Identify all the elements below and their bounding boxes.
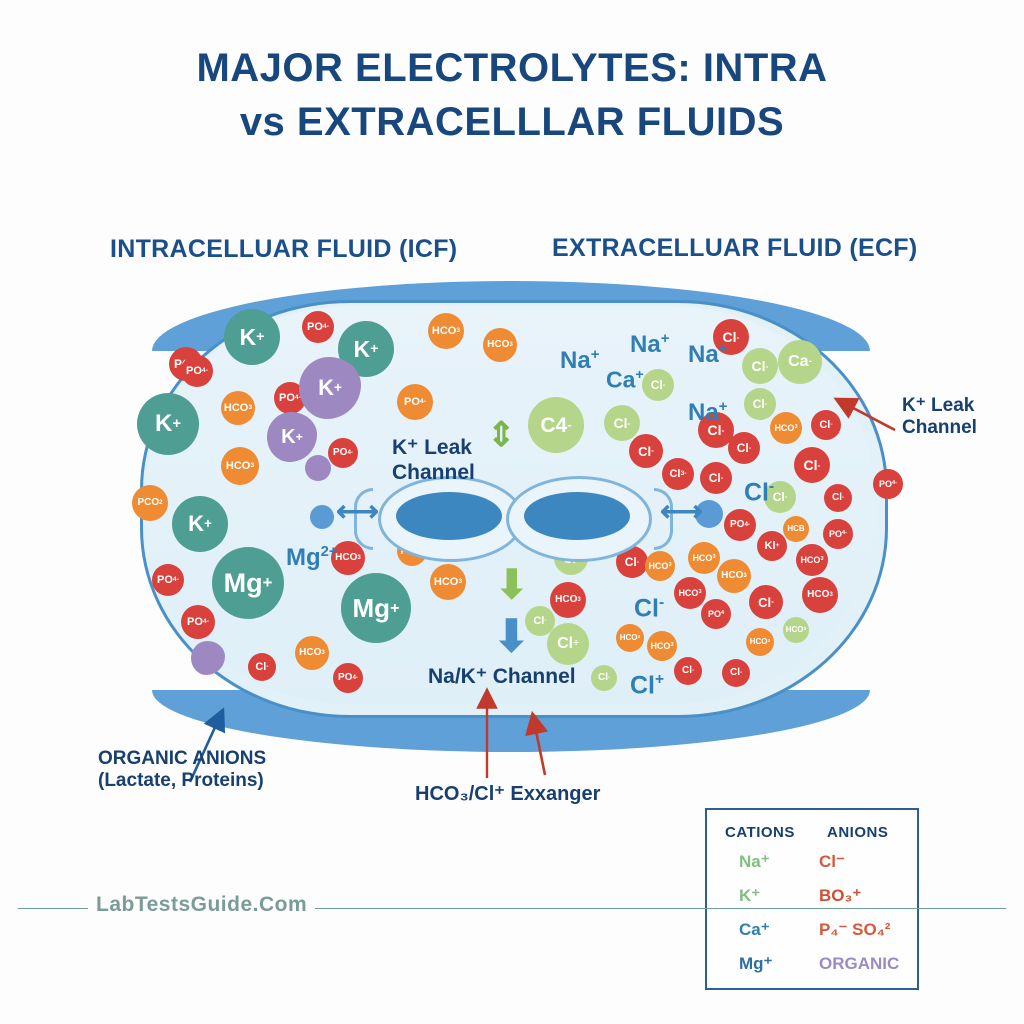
ecf-ion: Cl- [749, 585, 783, 619]
ecf-heading: EXTRACELLUAR FLUID (ECF) [552, 234, 918, 263]
k-leak-channel-right-label: K⁺ Leak Channel [902, 395, 977, 440]
icf-ion: K+ [224, 309, 280, 365]
icf-ion: PO4- [397, 384, 433, 420]
ecf-ion: HCO3 [802, 577, 838, 613]
icf-ion: PCO2 [132, 485, 168, 521]
icf-ion: PO4- [328, 438, 358, 468]
ecf-ion: Cl- [728, 432, 760, 464]
text-ion-label: Na+ [560, 348, 599, 373]
icf-ion: PO4- [333, 663, 363, 693]
icf-ion: PO4- [181, 605, 215, 639]
blue-down-arrow-icon: ⬇ [493, 615, 530, 659]
transport-particle-inner [310, 505, 334, 529]
legend-anion-item: BO₃⁺ [819, 886, 861, 906]
legend-cations-header: CATIONS [725, 824, 795, 841]
ecf-ion: HCO3 [770, 412, 802, 444]
ecf-ion: HCO3 [550, 582, 586, 618]
ecf-ion: Cl- [642, 369, 674, 401]
ecf-ion: Cl- [604, 405, 640, 441]
green-bidirectional-arrow-icon: ⇕ [487, 418, 516, 452]
channel-protein-right [524, 492, 630, 540]
icf-ion: PO4- [181, 355, 213, 387]
text-ion-label: Na+ [688, 342, 727, 367]
text-ion-label: Ca+ [606, 368, 644, 392]
text-ion-label: Mg2+ [286, 545, 338, 570]
ecf-ion: HCO3 [688, 542, 720, 574]
legend-anion-item: P₄⁻ SO₄² [819, 920, 890, 940]
legend-box: CATIONS ANIONS Na⁺K⁺Ca⁺Mg⁺Cl⁻BO₃⁺P₄⁻ SO₄… [705, 808, 919, 990]
ecf-ion: Cl3- [662, 458, 694, 490]
ecf-ion: Cl- [591, 665, 617, 691]
legend-cation-item: Ca⁺ [739, 920, 770, 940]
icf-ion: HCO3 [483, 328, 517, 362]
ecf-ion: PO4- [873, 469, 903, 499]
ecf-ion: HCB [783, 516, 809, 542]
icf-ion: HCO3 [221, 447, 259, 485]
text-ion-label: Cl- [634, 595, 664, 621]
ecf-ion: Cl- [700, 462, 732, 494]
k-leak-channel-inner-label: K⁺ Leak Channel [392, 436, 475, 486]
page-title-line2: vs EXTRACELLLAR FLUIDS [0, 100, 1024, 145]
icf-ion [305, 455, 331, 481]
legend-cation-item: Mg⁺ [739, 954, 773, 974]
green-down-arrow-icon: ⬇ [495, 565, 529, 605]
icf-ion: PO4- [152, 564, 184, 596]
ecf-ion: Cl- [629, 434, 663, 468]
ecf-ion: Cl- [824, 484, 852, 512]
exchange-arrow-right-icon: ⟷ [660, 497, 703, 527]
page-title-line1: MAJOR ELECTROLYTES: INTRA [0, 46, 1024, 91]
ecf-ion: Cl- [811, 410, 841, 440]
icf-ion: K+ [137, 393, 199, 455]
ecf-ion: HCO3 [645, 551, 675, 581]
legend-cation-item: Na⁺ [739, 852, 770, 872]
text-ion-label: Cl- [744, 479, 774, 505]
channel-protein-left [396, 492, 502, 540]
ecf-ion: Cl- [744, 388, 776, 420]
legend-cation-item: K⁺ [739, 886, 760, 906]
ecf-ion: HCO3 [674, 577, 706, 609]
ecf-ion: PO4- [823, 519, 853, 549]
ecf-ion: Cl- [794, 447, 830, 483]
icf-ion: HCO3 [221, 391, 255, 425]
ecf-ion: Cl- [722, 659, 750, 687]
icf-ion: PO4- [302, 311, 334, 343]
hco3-cl-exchanger-label: HCO₃/Cl⁺ Exxanger [415, 783, 600, 807]
ecf-ion: Cl- [742, 348, 778, 384]
legend-anion-item: Cl⁻ [819, 852, 845, 872]
ecf-ion: HCO3 [717, 559, 751, 593]
ecf-ion: C4- [528, 397, 584, 453]
text-ion-label: Cl+ [630, 672, 664, 698]
icf-heading: INTRACELLUAR FLUID (ICF) [110, 235, 457, 264]
legend-anions-header: ANIONS [827, 824, 888, 841]
icf-ion: HCO3 [430, 564, 466, 600]
icf-ion: Mg+ [212, 547, 284, 619]
icf-ion: HCO3 [295, 636, 329, 670]
organic-anions-label: ORGANIC ANIONS (Lactate, Proteins) [98, 748, 266, 793]
ecf-ion: HCO3 [616, 624, 644, 652]
text-ion-label: Na+ [630, 332, 669, 357]
ecf-ion: HCO3 [647, 631, 677, 661]
icf-ion: K+ [172, 496, 228, 552]
ecf-ion: Cl+ [547, 623, 589, 665]
icf-ion: Cl- [248, 653, 276, 681]
icf-ion: HCO3 [428, 313, 464, 349]
ecf-ion: HCO3 [783, 617, 809, 643]
ecf-ion: PO4 [701, 599, 731, 629]
na-k-channel-label: Na/K⁺ Channel [428, 665, 576, 690]
watermark-text: LabTestsGuide.Com [88, 893, 315, 917]
legend-anion-item: ORGANIC [819, 954, 899, 974]
ecf-ion: HCO3 [796, 544, 828, 576]
text-ion-label: Na+ [688, 400, 727, 425]
ecf-ion: HCO3 [746, 628, 774, 656]
ecf-ion: Ca- [778, 340, 822, 384]
exchange-arrow-left-icon: ⟷ [336, 497, 379, 527]
diagram-canvas: MAJOR ELECTROLYTES: INTRA vs EXTRACELLLA… [0, 0, 1024, 1024]
ecf-ion: PO4- [724, 509, 756, 541]
icf-ion: Mg+ [341, 573, 411, 643]
ecf-ion: Cl- [674, 657, 702, 685]
ecf-ion: Kl+ [757, 531, 787, 561]
